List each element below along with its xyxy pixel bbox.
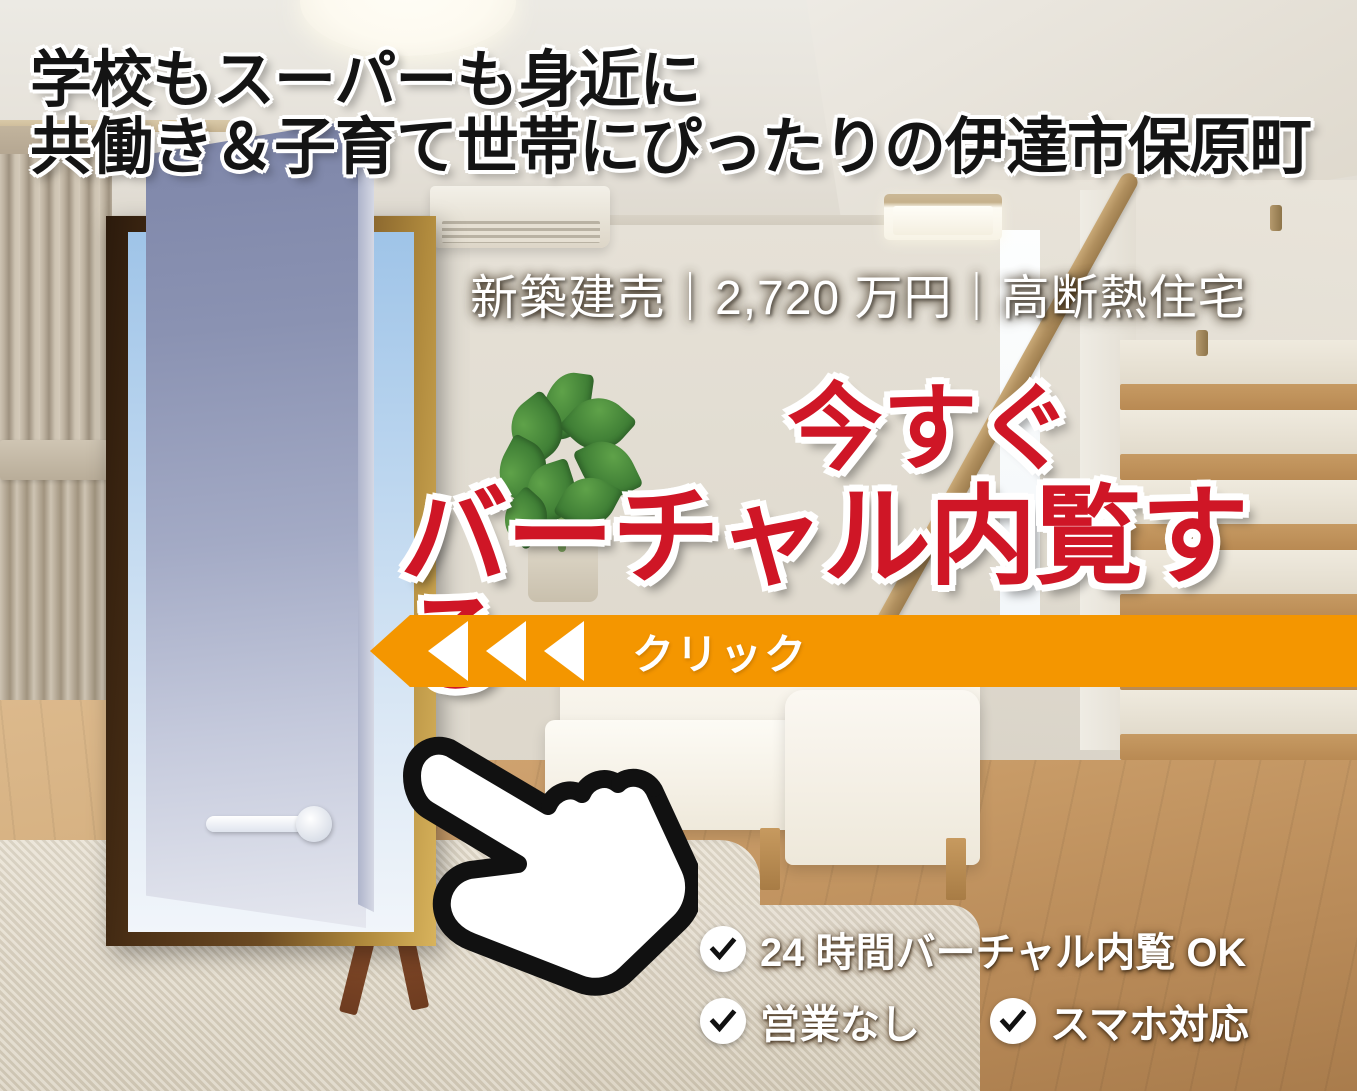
checklist-row: 24 時間バーチャル内覧 OK xyxy=(700,920,1340,978)
sofa-leg xyxy=(946,838,966,900)
list-item: 24 時間バーチャル内覧 OK xyxy=(700,920,1246,978)
headline-line-2: 共働き＆子育て世帯にぴったりの伊達市保原町 xyxy=(30,115,1340,182)
curtain-tieback xyxy=(0,440,108,480)
property-summary: 新築建売｜2,720 万円｜高断熱住宅 xyxy=(470,258,1330,328)
door-panel-edge xyxy=(358,130,374,920)
list-item: スマホ対応 xyxy=(990,992,1249,1050)
check-icon xyxy=(990,998,1036,1044)
click-cta-bar[interactable]: クリック xyxy=(370,615,1357,687)
hand-pointer-icon xyxy=(398,718,698,998)
handrail-bracket xyxy=(1270,205,1282,231)
square-ceiling-light-icon xyxy=(884,194,1002,240)
cta-label: クリック xyxy=(632,621,808,682)
arrow-group xyxy=(428,621,584,681)
virtual-tour-banner[interactable]: 学校もスーパーも身近に 共働き＆子育て世帯にぴったりの伊達市保原町 新築建売｜2… xyxy=(0,0,1357,1091)
door-panel xyxy=(146,118,366,928)
check-label: 営業なし xyxy=(760,992,920,1050)
checklist-row: 営業なし スマホ対応 xyxy=(700,992,1340,1050)
triangle-left-icon xyxy=(544,621,584,681)
check-icon xyxy=(700,998,746,1044)
hero-line-1: 今すぐ xyxy=(560,382,1300,477)
handrail-bracket xyxy=(1196,330,1208,356)
air-conditioner-icon xyxy=(430,186,610,248)
triangle-left-icon xyxy=(486,621,526,681)
door-handle-rosette xyxy=(296,806,332,842)
feature-checklist: 24 時間バーチャル内覧 OK 営業なし スマホ対応 xyxy=(700,920,1340,1064)
list-item: 営業なし xyxy=(700,992,920,1050)
check-label: 24 時間バーチャル内覧 OK xyxy=(760,920,1246,978)
headline-line-1: 学校もスーパーも身近に xyxy=(30,46,700,115)
check-label: スマホ対応 xyxy=(1050,992,1249,1050)
triangle-left-icon xyxy=(428,621,468,681)
page-title: 学校もスーパーも身近に 共働き＆子育て世帯にぴったりの伊達市保原町 xyxy=(30,48,1340,182)
sofa-leg xyxy=(760,828,780,890)
check-icon xyxy=(700,926,746,972)
